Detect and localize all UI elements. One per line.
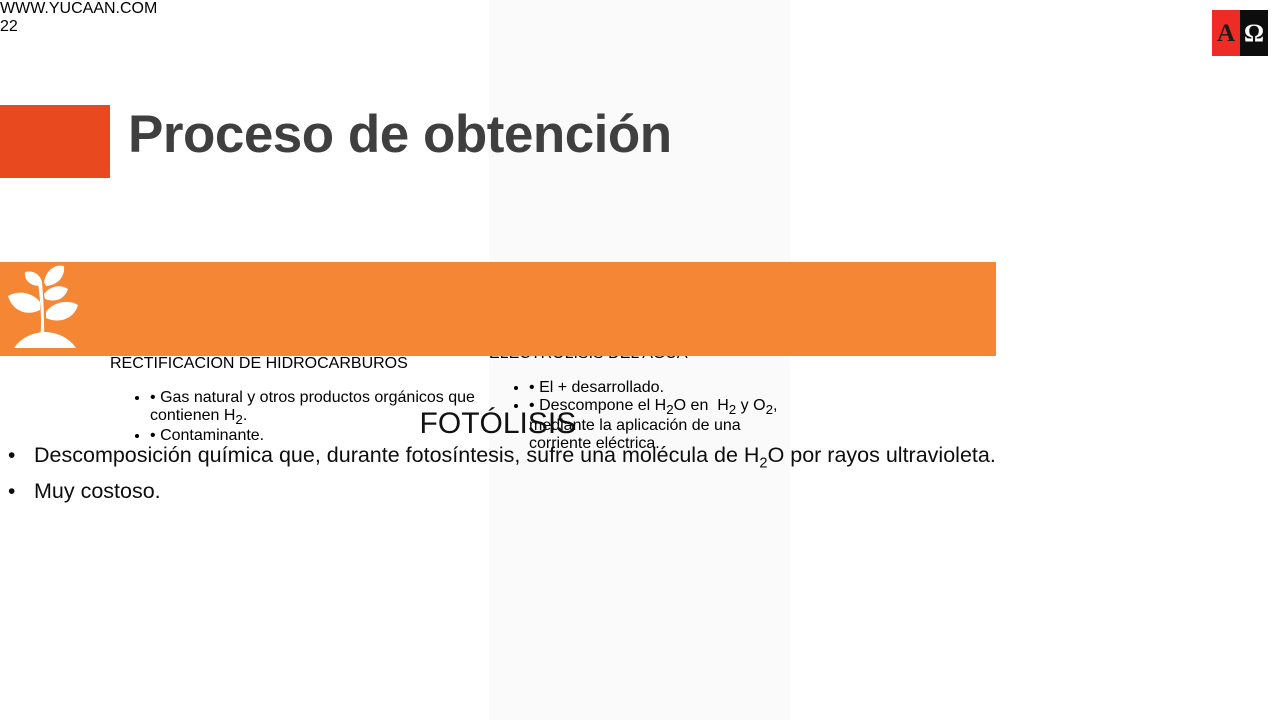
page-title: Proceso de obtención <box>128 104 672 165</box>
bullet-text: Descomposición química que, durante foto… <box>34 443 996 467</box>
list-item: • Muy costoso. <box>0 476 996 507</box>
bullet-glyph: • <box>8 441 15 471</box>
content-column-fotolisis: FOTÓLISIS • Descomposición química que, … <box>0 262 996 509</box>
slide-canvas: A Ω Proceso de obtención <box>0 0 1280 720</box>
column-heading-fotolisis: FOTÓLISIS <box>0 408 996 440</box>
sprout-plant-icon-circle <box>0 262 996 356</box>
title-accent-block <box>0 105 110 178</box>
bullet-glyph: • <box>8 477 15 507</box>
bullet-text: Muy costoso. <box>34 479 161 503</box>
brand-logo: A Ω <box>1212 10 1268 56</box>
bullet-list-fotolisis: • Descomposición química que, durante fo… <box>0 440 996 507</box>
sprout-plant-icon <box>0 262 90 356</box>
logo-alpha-glyph: A <box>1212 10 1240 56</box>
list-item: • Descomposición química que, durante fo… <box>0 440 996 474</box>
logo-omega-glyph: Ω <box>1240 10 1268 56</box>
